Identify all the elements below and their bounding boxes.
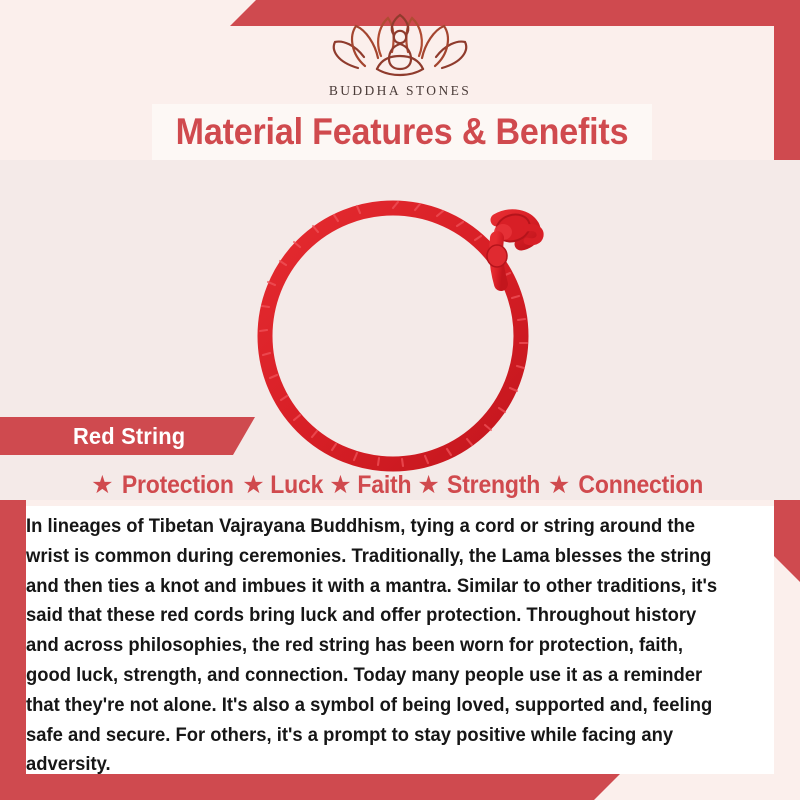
feature-item-luck: ★ Luck [242,471,325,500]
star-icon: ★ [417,473,439,498]
material-label-banner: Red String [0,417,255,455]
brand-name: BUDDHA STONES [290,83,510,99]
star-icon: ★ [242,473,264,498]
title-band: Material Features & Benefits [152,104,652,160]
lotus-meditation-icon [325,12,475,82]
infographic-root: BUDDHA STONES Material Features & Benefi… [0,0,800,800]
star-icon: ★ [548,473,570,498]
feature-item-faith: ★ Faith [329,471,413,500]
feature-label: Luck [270,471,323,500]
red-braided-string-bracelet [245,168,555,488]
feature-item-protection: ★ Protection [91,471,238,500]
feature-label: Protection [121,471,233,500]
feature-item-connection: ★ Connection [548,471,709,500]
feature-label: Faith [357,471,411,500]
star-icon: ★ [329,473,351,498]
description-text: In lineages of Tibetan Vajrayana Buddhis… [26,506,729,780]
feature-item-strength: ★ Strength [417,471,544,500]
brand-logo: BUDDHA STONES [290,12,510,99]
page-title: Material Features & Benefits [176,111,629,153]
feature-list: ★ Protection ★ Luck ★ Faith ★ Strength ★… [0,466,800,504]
star-icon: ★ [91,473,113,498]
description-panel: In lineages of Tibetan Vajrayana Buddhis… [26,506,774,774]
feature-label: Strength [447,471,540,500]
material-label: Red String [73,423,185,450]
feature-label: Connection [579,471,704,500]
header: BUDDHA STONES [0,0,800,110]
